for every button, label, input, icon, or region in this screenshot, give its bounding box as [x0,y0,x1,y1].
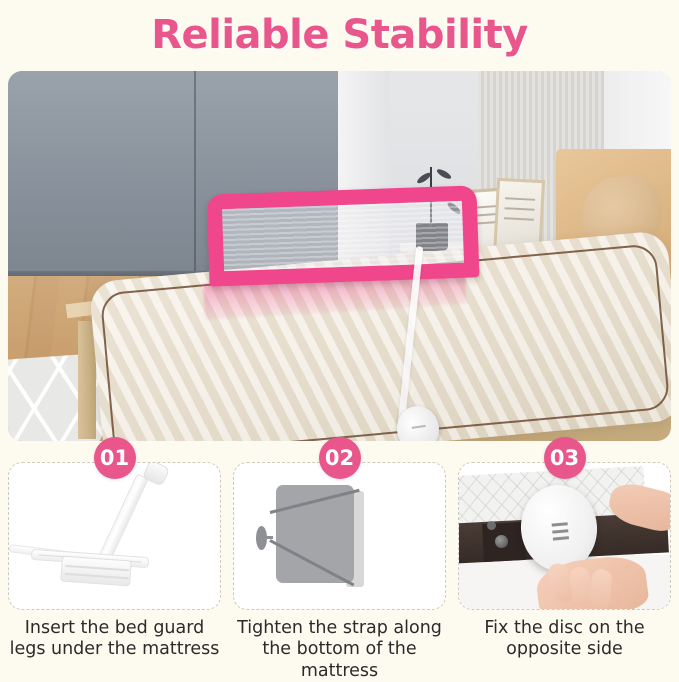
wardrobe-seam [194,71,196,276]
hero-image [8,71,671,441]
step-illustration-3 [458,462,671,610]
step-badge-2: 02 [319,437,361,479]
step-illustration-1 [8,462,221,610]
frame-bolt [487,521,496,530]
title-bar: Reliable Stability [0,0,679,70]
step-illustration-2 [233,462,446,610]
step-caption-1: Insert the bed guard legs under the matt… [8,618,221,661]
finger [590,568,613,609]
step-panel-3: 03 Fix the disc on the opposite side [458,458,671,661]
step-caption-2: Tighten the strap along the bottom of th… [233,618,446,682]
disc-diagram [256,526,267,550]
step-caption-3: Fix the disc on the opposite side [458,618,671,661]
frame-bolt [495,535,508,548]
step-panel-1: 01 Insert the bed guard legs under the m… [8,458,221,661]
guard-leg-foot [60,556,132,587]
step-badge-1: 01 [94,437,136,479]
page-title: Reliable Stability [151,12,528,58]
step-badge-3: 03 [544,437,586,479]
step-panel-2: 02 Tighten the strap along the bottom of… [233,458,446,682]
bed-guard-rail [206,185,479,286]
